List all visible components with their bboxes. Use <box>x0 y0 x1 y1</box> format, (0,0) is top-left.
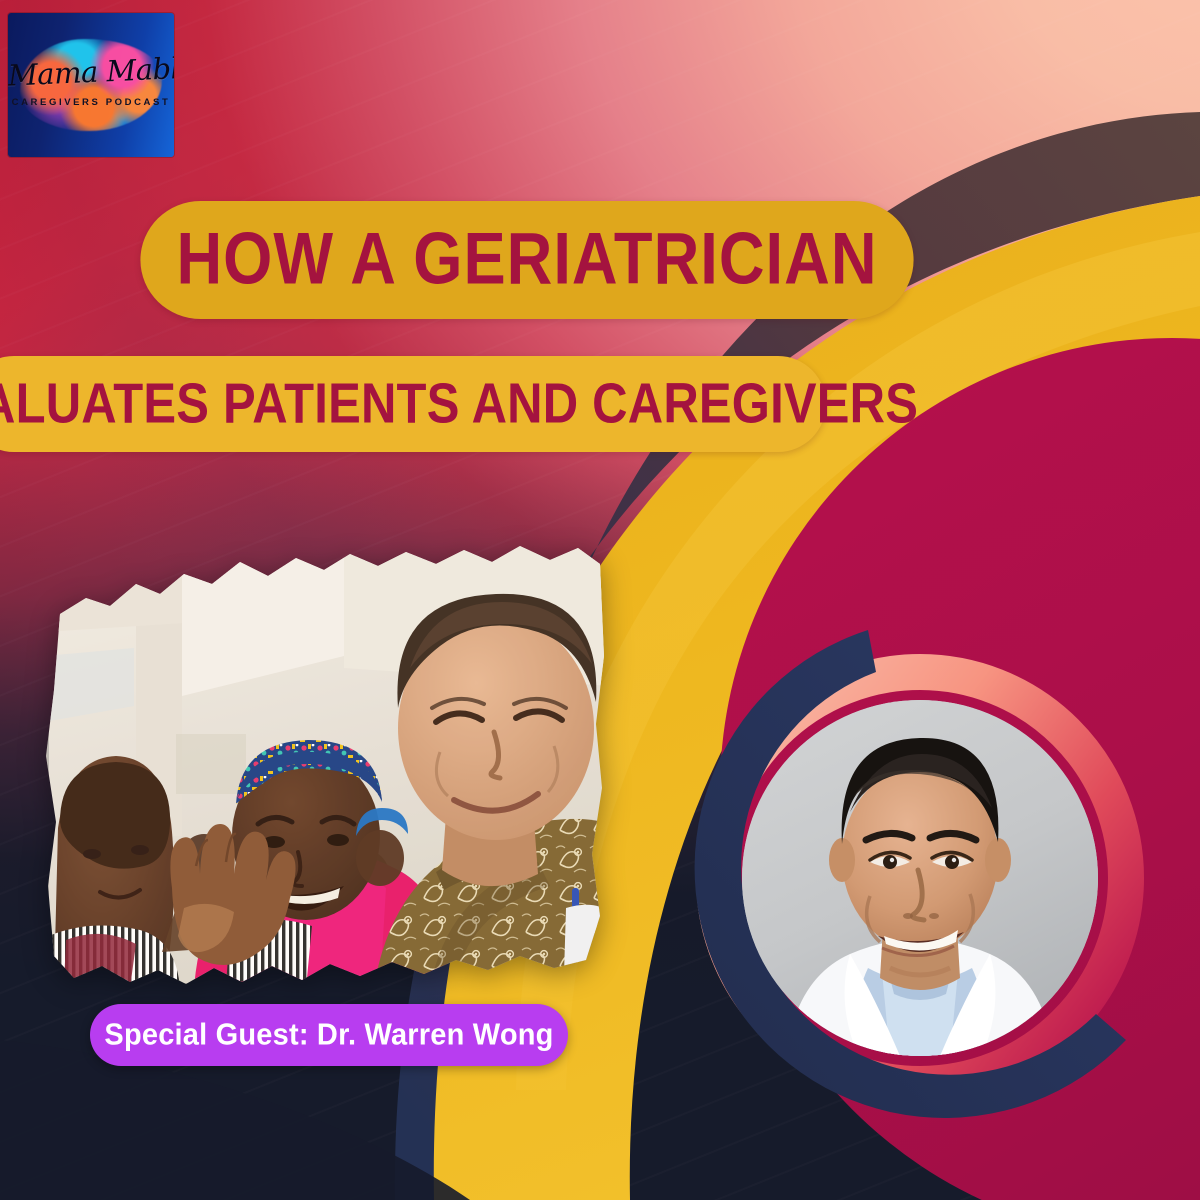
logo-subtitle-text: CAREGIVERS PODCAST <box>8 97 174 108</box>
brand-logo[interactable]: Mama Mable's CAREGIVERS PODCAST <box>8 13 174 157</box>
group-photo: Torn-edge selfie of Dr. Warren Wong with… <box>44 536 610 988</box>
title-line-1-pill: HOW A GERIATRICIAN <box>140 201 913 319</box>
podcast-cover-poster: Mama Mable's CAREGIVERS PODCAST HOW A GE… <box>0 0 1200 1200</box>
special-guest-badge: Special Guest: Dr. Warren Wong <box>90 1004 568 1066</box>
title-line-2-pill: EVALUATES PATIENTS AND CAREGIVERS <box>0 356 826 452</box>
logo-script-text: Mama Mable's <box>8 51 174 92</box>
guest-headshot: Professional headshot of Dr. Warren Wong… <box>742 700 1098 1056</box>
special-guest-text: Special Guest: Dr. Warren Wong <box>104 1018 553 1053</box>
title-line-2-text: EVALUATES PATIENTS AND CAREGIVERS <box>0 376 918 433</box>
title-line-1-text: HOW A GERIATRICIAN <box>176 223 877 296</box>
